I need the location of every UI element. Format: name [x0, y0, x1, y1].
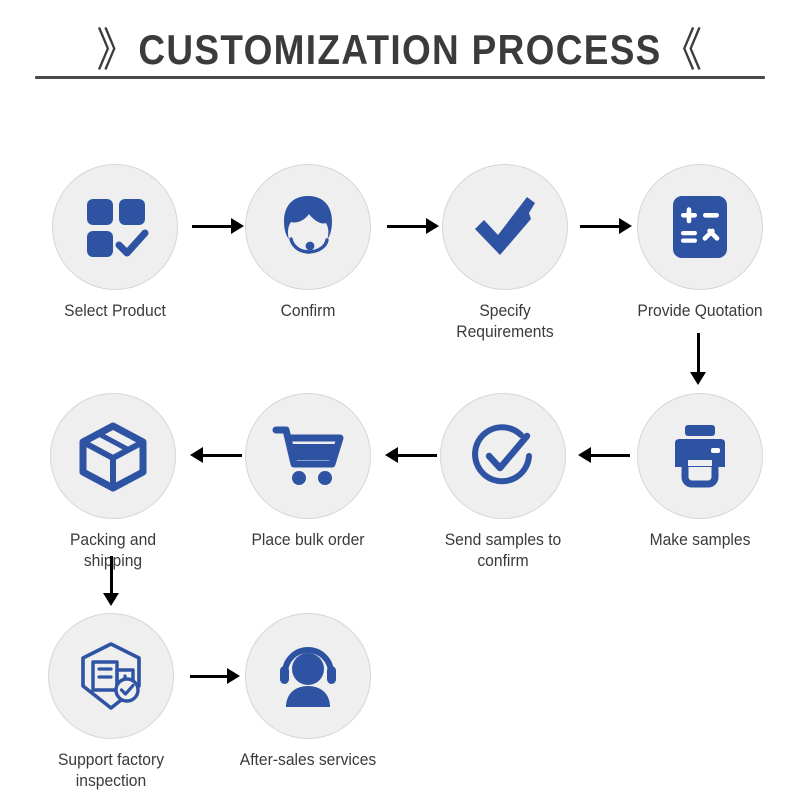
step-label: Specify Requirements — [431, 300, 578, 342]
step-icon-circle — [50, 393, 176, 519]
step-label: Confirm — [234, 300, 381, 321]
step-icon-circle — [245, 164, 371, 290]
arrow-head-down-icon — [690, 372, 706, 385]
check-circle-icon — [465, 418, 541, 494]
arrow-step7-to-step8 — [190, 444, 242, 466]
step-node-make-samples[interactable]: Make samples — [620, 393, 780, 550]
step-node-place-bulk-order[interactable]: Place bulk order — [228, 393, 388, 550]
page-title: 》CUSTOMIZATION PROCESS《 — [48, 12, 752, 78]
arrow-step3-to-step4 — [580, 215, 632, 237]
arrow-shaft — [192, 225, 231, 228]
shopping-cart-icon — [270, 418, 346, 494]
step-node-specify-requirements[interactable]: Specify Requirements — [425, 164, 585, 342]
arrow-head-down-icon — [103, 593, 119, 606]
arrow-head-left-icon — [385, 447, 398, 463]
step-label: Support factory inspection — [37, 749, 184, 791]
arrow-shaft — [591, 454, 630, 457]
calculator-icon — [666, 193, 734, 261]
arrow-head-right-icon — [426, 218, 439, 234]
step-icon-circle — [52, 164, 178, 290]
header-divider — [35, 76, 765, 79]
step-node-confirm[interactable]: Confirm — [228, 164, 388, 321]
printer-icon — [663, 419, 737, 493]
step-icon-circle — [637, 393, 763, 519]
step-node-send-samples-to-confirm[interactable]: Send samples to confirm — [423, 393, 583, 571]
step-icon-circle — [442, 164, 568, 290]
step-label: Send samples to confirm — [429, 529, 576, 571]
arrow-shaft — [190, 675, 227, 678]
arrow-shaft — [697, 333, 700, 372]
right-chevron-icon: 《 — [662, 24, 704, 76]
page-title-text: CUSTOMIZATION PROCESS — [138, 26, 661, 73]
factory-inspection-icon — [73, 638, 149, 714]
step-icon-circle — [440, 393, 566, 519]
arrow-head-right-icon — [619, 218, 632, 234]
grid-check-icon — [79, 191, 151, 263]
left-chevron-icon: 》 — [97, 24, 139, 76]
arrow-head-left-icon — [578, 447, 591, 463]
support-agent-icon — [271, 190, 345, 264]
headset-person-icon — [271, 639, 345, 713]
step-node-provide-quotation[interactable]: Provide Quotation — [620, 164, 780, 321]
step-icon-circle — [637, 164, 763, 290]
arrow-step4-to-step5 — [687, 333, 709, 385]
arrow-step2-to-step3 — [387, 215, 439, 237]
arrow-shaft — [580, 225, 619, 228]
arrow-step6-to-step7 — [385, 444, 437, 466]
arrow-shaft — [110, 556, 113, 593]
arrow-head-right-icon — [231, 218, 244, 234]
step-node-select-product[interactable]: Select Product — [35, 164, 195, 321]
arrow-step9-to-step10 — [190, 665, 240, 687]
header: 》CUSTOMIZATION PROCESS《 — [0, 0, 800, 96]
arrow-head-right-icon — [227, 668, 240, 684]
step-node-packing-and-shipping[interactable]: Packing and shipping — [33, 393, 193, 571]
arrow-shaft — [203, 454, 242, 457]
package-box-icon — [75, 418, 151, 494]
step-node-after-sales-services[interactable]: After-sales services — [228, 613, 388, 770]
step-icon-circle — [245, 393, 371, 519]
step-label: Select Product — [41, 300, 188, 321]
arrow-step1-to-step2 — [192, 215, 244, 237]
step-label: Place bulk order — [234, 529, 381, 550]
customization-process-infographic: 》CUSTOMIZATION PROCESS《 Select Product C… — [0, 0, 800, 800]
step-node-support-factory-inspection[interactable]: Support factory inspection — [31, 613, 191, 791]
step-label: Make samples — [626, 529, 773, 550]
step-icon-circle — [48, 613, 174, 739]
step-label: Provide Quotation — [626, 300, 773, 321]
arrow-shaft — [398, 454, 437, 457]
arrow-shaft — [387, 225, 426, 228]
arrow-head-left-icon — [190, 447, 203, 463]
arrow-step8-to-step9 — [100, 556, 122, 606]
step-label: After-sales services — [234, 749, 381, 770]
step-icon-circle — [245, 613, 371, 739]
arrow-step5-to-step6 — [578, 444, 630, 466]
checkmark-icon — [467, 189, 543, 265]
